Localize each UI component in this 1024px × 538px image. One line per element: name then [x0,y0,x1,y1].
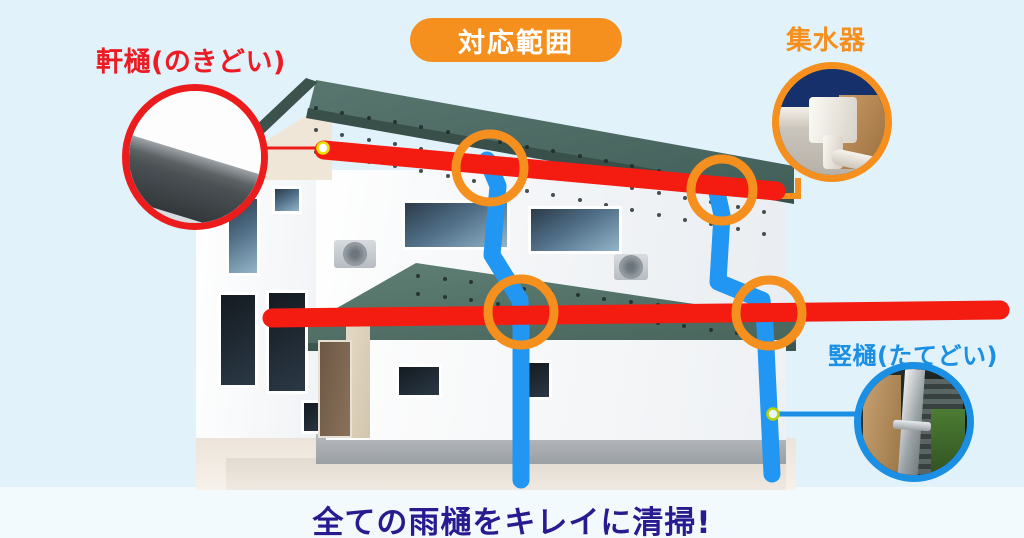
roof-dot [419,147,423,151]
callout-downspout [854,362,974,482]
roof-dot [604,159,608,163]
roof-dot [762,210,766,214]
ac-unit-right [614,254,648,280]
roof-dot [762,188,766,192]
roof-dot [709,328,713,332]
infographic-canvas: 軒樋(のきどい) 集水器 竪樋(たてどい) 対応範囲 全ての雨樋をキレイに清掃! [0,0,1024,538]
label-downspout: 竪樋(たてどい) [828,336,998,371]
roof-dot [762,316,766,320]
roof-dot [629,300,633,304]
roof-dot [602,315,606,319]
label-water-collector: 集水器 [786,20,866,57]
roof-dot [736,227,740,231]
roof-dot [736,205,740,209]
house-photo [196,78,796,490]
roof-dot [446,174,450,178]
window-left-lower [218,292,258,388]
roof-dot [709,310,713,314]
roof-dot [416,292,420,296]
roof-dot [446,152,450,156]
roof-dot [340,133,344,137]
callout-downspout-foliage [931,409,965,482]
lower-storey-wall [326,340,786,440]
roof-dot [314,128,318,132]
roof-dot [340,155,344,159]
roof-dot [393,142,397,146]
roof-dot [656,321,660,325]
roof-dot [657,191,661,195]
label-eaves-gutter: 軒樋(のきどい) [96,40,286,79]
roof-dot [683,196,687,200]
roof-dot [443,295,447,299]
callout-water-collector [772,62,892,182]
bottom-caption: 全ての雨樋をキレイに清掃! [0,497,1024,538]
window-lower-center [396,364,442,398]
window-upper-center [402,200,510,250]
title-badge-label: 対応範囲 [458,21,574,60]
roof-dot [683,174,687,178]
roof-dot [393,164,397,168]
roof-dot [496,302,500,306]
roof-dot [367,138,371,142]
roof-dot [578,176,582,180]
roof-dot [578,154,582,158]
roof-dot [446,130,450,134]
roof-dot [525,189,529,193]
window-lower-right [526,360,552,400]
roof-dot [443,277,447,281]
front-door [318,340,352,438]
window-left-lower-2 [266,290,308,394]
roof-dot [525,145,529,149]
roof-dot [762,334,766,338]
roof-dot [629,318,633,322]
roof-dot [602,297,606,301]
roof-dot [367,160,371,164]
roof-dot [657,169,661,173]
roof-dot [498,162,502,166]
roof-dot [314,150,318,154]
title-badge: 対応範囲 [410,18,622,62]
roof-dot [604,181,608,185]
roof-dot [416,274,420,278]
roof-dot [367,116,371,120]
callout-eaves-gutter [122,84,268,230]
ac-unit-left [334,240,376,268]
roof-dot [578,198,582,202]
roof-dot [656,303,660,307]
window-upper-right [528,206,622,254]
roof-dot [683,218,687,222]
roof-dot [525,167,529,171]
window-gable-small [272,186,302,214]
roof-dot [736,183,740,187]
roof-dot [314,106,318,110]
roof-dot [657,213,661,217]
roof-dot [496,284,500,288]
roof-dot [762,232,766,236]
roof-dot [472,157,476,161]
